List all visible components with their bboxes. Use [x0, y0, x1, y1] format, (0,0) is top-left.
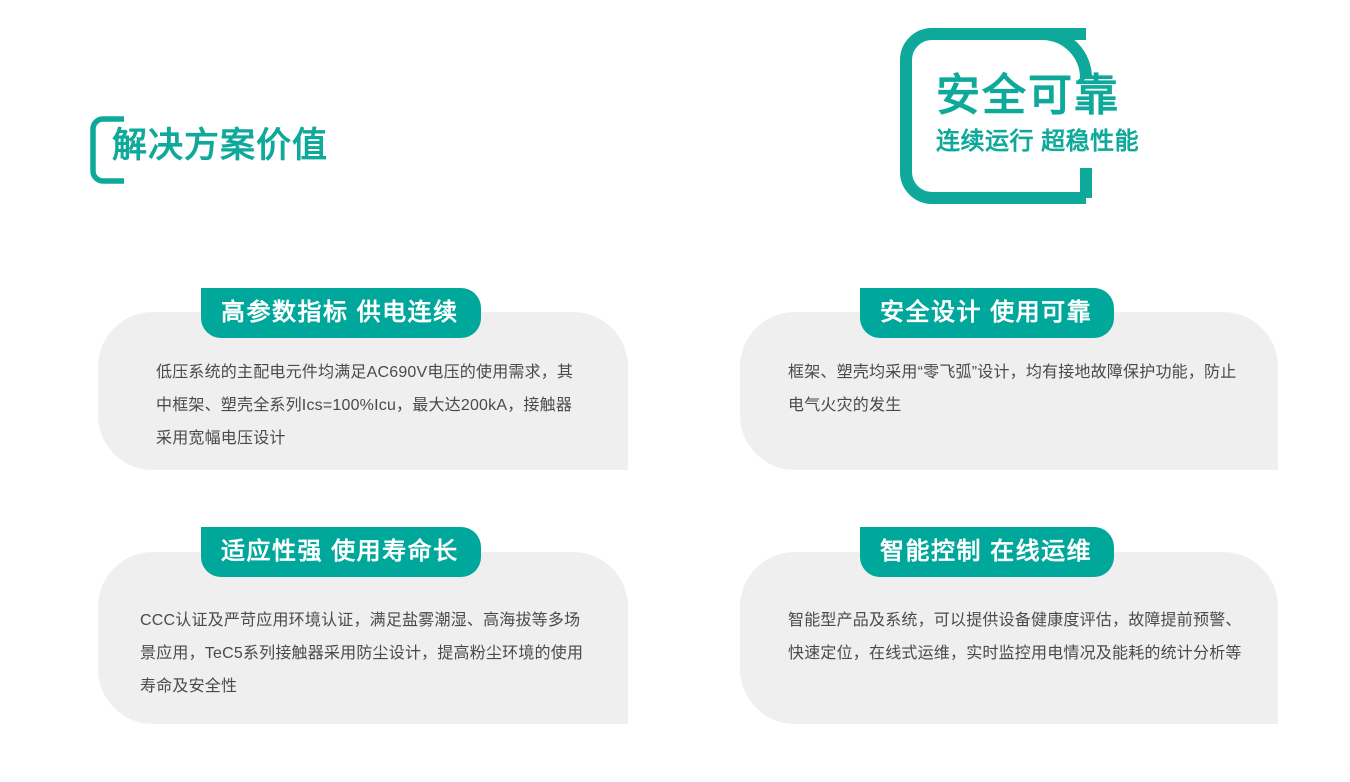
- card-title-badge: 智能控制 在线运维: [860, 527, 1114, 577]
- card-body-text: 智能型产品及系统，可以提供设备健康度评估，故障提前预警、快速定位，在线式运维，实…: [788, 604, 1244, 670]
- feature-card-smart-control: 智能控制 在线运维 智能型产品及系统，可以提供设备健康度评估，故障提前预警、快速…: [740, 552, 1278, 724]
- card-title-badge: 适应性强 使用寿命长: [201, 527, 481, 577]
- card-title-badge: 高参数指标 供电连续: [201, 288, 481, 338]
- feature-card-grid: 高参数指标 供电连续 低压系统的主配电元件均满足AC690V电压的使用需求，其中…: [0, 0, 1350, 782]
- feature-card-high-parameter: 高参数指标 供电连续 低压系统的主配电元件均满足AC690V电压的使用需求，其中…: [98, 312, 628, 470]
- feature-card-adaptability: 适应性强 使用寿命长 CCC认证及严苛应用环境认证，满足盐雾潮湿、高海拔等多场景…: [98, 552, 628, 724]
- card-title-badge: 安全设计 使用可靠: [860, 288, 1114, 338]
- slide-canvas: 解决方案价值 安全可靠 连续运行 超稳性能 高参数指标 供电连续 低压系统的主配…: [0, 0, 1350, 782]
- card-body-text: 低压系统的主配电元件均满足AC690V电压的使用需求，其中框架、塑壳全系列Ics…: [156, 356, 588, 455]
- feature-card-safe-design: 安全设计 使用可靠 框架、塑壳均采用“零飞弧”设计，均有接地故障保护功能，防止电…: [740, 312, 1278, 470]
- card-body-text: 框架、塑壳均采用“零飞弧”设计，均有接地故障保护功能，防止电气火灾的发生: [788, 356, 1244, 422]
- card-body-text: CCC认证及严苛应用环境认证，满足盐雾潮湿、高海拔等多场景应用，TeC5系列接触…: [140, 604, 588, 703]
